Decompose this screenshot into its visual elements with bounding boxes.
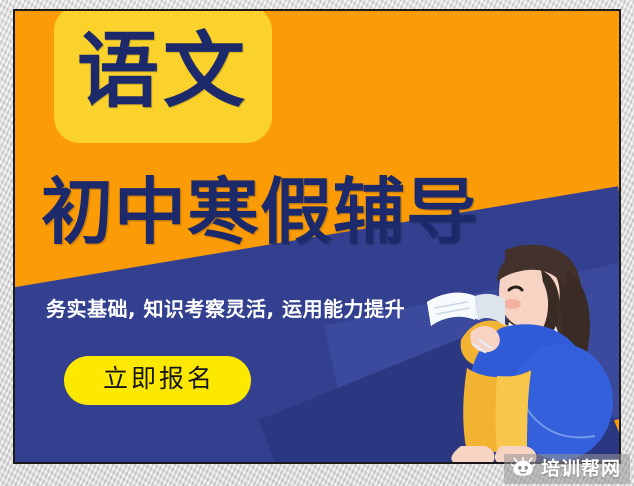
subject-badge: 语文	[54, 11, 272, 143]
poster-headline: 初中寒假辅导	[41, 176, 479, 248]
page-backdrop: 语文 初中寒假辅导 务实基础, 知识考察灵活, 运用能力提升 立即报名 培训帮网	[0, 0, 634, 486]
banner-canvas: 语文 初中寒假辅导 务实基础, 知识考察灵活, 运用能力提升 立即报名	[15, 11, 619, 462]
site-watermark: 培训帮网	[504, 454, 630, 484]
girl-reading-illustration	[409, 236, 619, 462]
enroll-now-button[interactable]: 立即报名	[64, 356, 251, 405]
course-promo-banner: 语文 初中寒假辅导 务实基础, 知识考察灵活, 运用能力提升 立即报名	[13, 9, 621, 464]
poster-subtitle: 务实基础, 知识考察灵活, 运用能力提升	[46, 293, 405, 322]
subject-badge-label: 语文	[77, 31, 249, 117]
sun-face-icon	[511, 457, 535, 481]
enroll-now-button-label: 立即报名	[100, 367, 215, 394]
site-watermark-label: 培训帮网	[541, 460, 621, 479]
